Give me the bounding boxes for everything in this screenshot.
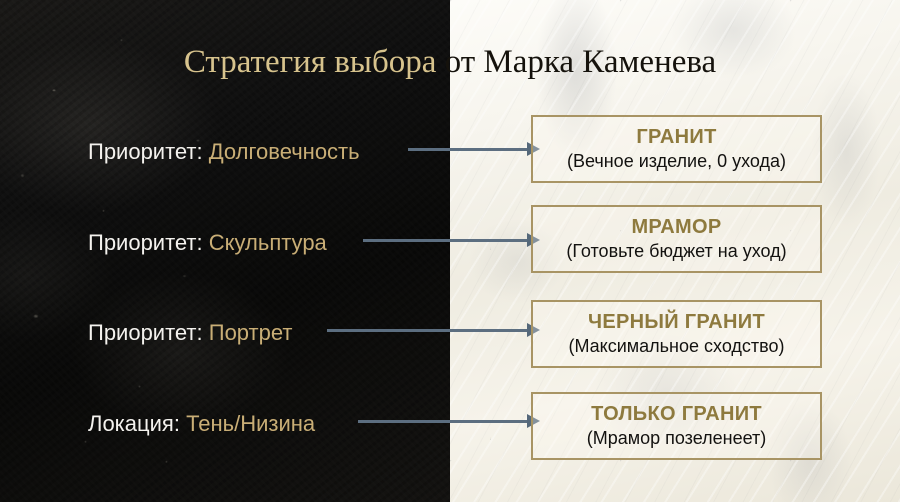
result-box-1[interactable]: ГРАНИТ (Вечное изделие, 0 ухода)	[531, 115, 822, 183]
criteria-label-4: Локация: Тень/Низина	[88, 411, 315, 437]
result-box-3[interactable]: ЧЕРНЫЙ ГРАНИТ (Максимальное сходство)	[531, 300, 822, 368]
page-title-dark-part: от Марка Каменева	[445, 44, 717, 80]
criteria-key-4: Локация:	[88, 411, 180, 436]
arrow-right-icon-1	[408, 142, 540, 156]
arrow-right-icon-3	[327, 323, 540, 337]
infographic-slide: Стратегия выбора от Марка Каменева Приор…	[0, 0, 900, 502]
criteria-label-1: Приоритет: Долговечность	[88, 139, 360, 165]
result-box-title-2: МРАМОР	[631, 215, 721, 239]
criteria-value-1: Долговечность	[209, 139, 360, 164]
criteria-key-2: Приоритет:	[88, 230, 203, 255]
page-title: Стратегия выбора от Марка Каменева	[0, 42, 900, 82]
result-box-subtitle-4: (Мрамор позеленеет)	[587, 427, 767, 450]
result-box-subtitle-1: (Вечное изделие, 0 ухода)	[567, 150, 786, 173]
criteria-label-3: Приоритет: Портрет	[88, 320, 292, 346]
arrow-right-icon-4	[358, 414, 540, 428]
result-box-subtitle-2: (Готовьте бюджет на уход)	[566, 240, 786, 263]
criteria-key-1: Приоритет:	[88, 139, 203, 164]
result-box-title-4: ТОЛЬКО ГРАНИТ	[591, 402, 762, 426]
page-title-gold-part: Стратегия выбора	[184, 44, 445, 80]
criteria-label-2: Приоритет: Скульптура	[88, 230, 327, 256]
result-box-title-3: ЧЕРНЫЙ ГРАНИТ	[588, 310, 765, 334]
criteria-key-3: Приоритет:	[88, 320, 203, 345]
result-box-4[interactable]: ТОЛЬКО ГРАНИТ (Мрамор позеленеет)	[531, 392, 822, 460]
result-box-title-1: ГРАНИТ	[636, 125, 716, 149]
result-box-subtitle-3: (Максимальное сходство)	[568, 335, 784, 358]
criteria-value-3: Портрет	[209, 320, 293, 345]
result-box-2[interactable]: МРАМОР (Готовьте бюджет на уход)	[531, 205, 822, 273]
arrow-right-icon-2	[363, 233, 540, 247]
criteria-value-4: Тень/Низина	[186, 411, 315, 436]
criteria-value-2: Скульптура	[209, 230, 327, 255]
